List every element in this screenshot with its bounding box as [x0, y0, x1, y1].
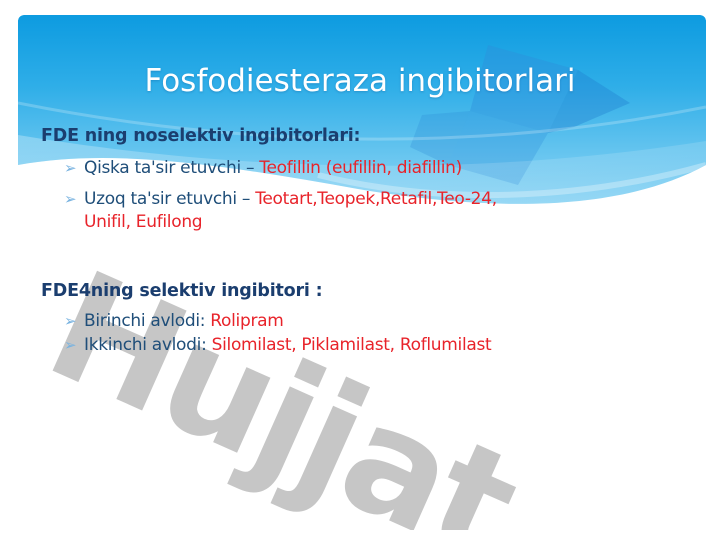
list-item: ➢ Qiska ta'sir etuvchi – Teofillin (eufi… — [64, 157, 462, 180]
slide-content: Fosfodiesteraza ingibitorlari FDE ning n… — [0, 0, 720, 540]
list-item-line: Ikkinchi avlodi: Silomilast, Piklamilast… — [84, 334, 491, 357]
list-item-text: Uzoq ta'sir etuvchi – Teotart,Teopek,Ret… — [84, 188, 497, 234]
drug-names: Teofillin (eufillin, diafillin) — [259, 158, 462, 178]
drug-names: Teotart,Teopek,Retafil,Teo-24, — [255, 189, 497, 209]
drug-names: Rolipram — [210, 311, 283, 331]
section-heading-noselective: FDE ning noselektiv ingibitorlari: — [41, 126, 360, 146]
arrow-bullet-icon: ➢ — [64, 310, 84, 333]
arrow-bullet-icon: ➢ — [64, 157, 84, 180]
list-item-text: Birinchi avlodi: Rolipram — [84, 310, 284, 333]
drug-names-continued: Unifil, Eufilong — [84, 211, 497, 234]
presentation-slide: Hujjat Fosfodiesteraza ingibitorlari FDE… — [0, 0, 720, 540]
arrow-bullet-icon: ➢ — [64, 334, 84, 357]
section-heading-selective: FDE4ning selektiv ingibitori : — [41, 281, 322, 301]
arrow-bullet-icon: ➢ — [64, 188, 84, 211]
list-item-text: Qiska ta'sir etuvchi – Teofillin (eufill… — [84, 157, 462, 180]
page-title: Fosfodiesteraza ingibitorlari — [0, 62, 720, 100]
list-item-line: Uzoq ta'sir etuvchi – Teotart,Teopek,Ret… — [84, 188, 497, 211]
list-item: ➢ Ikkinchi avlodi: Silomilast, Piklamila… — [64, 334, 491, 357]
list-item-line: Qiska ta'sir etuvchi – Teofillin (eufill… — [84, 157, 462, 180]
list-item-label: Uzoq ta'sir etuvchi – — [84, 189, 255, 209]
list-item-label: Birinchi avlodi: — [84, 311, 210, 331]
list-item-line: Birinchi avlodi: Rolipram — [84, 310, 284, 333]
list-item-label: Ikkinchi avlodi: — [84, 335, 212, 355]
list-item: ➢ Uzoq ta'sir etuvchi – Teotart,Teopek,R… — [64, 188, 497, 234]
list-item-text: Ikkinchi avlodi: Silomilast, Piklamilast… — [84, 334, 491, 357]
list-item: ➢ Birinchi avlodi: Rolipram — [64, 310, 284, 333]
list-item-label: Qiska ta'sir etuvchi – — [84, 158, 259, 178]
drug-names: Silomilast, Piklamilast, Roflumilast — [212, 335, 492, 355]
